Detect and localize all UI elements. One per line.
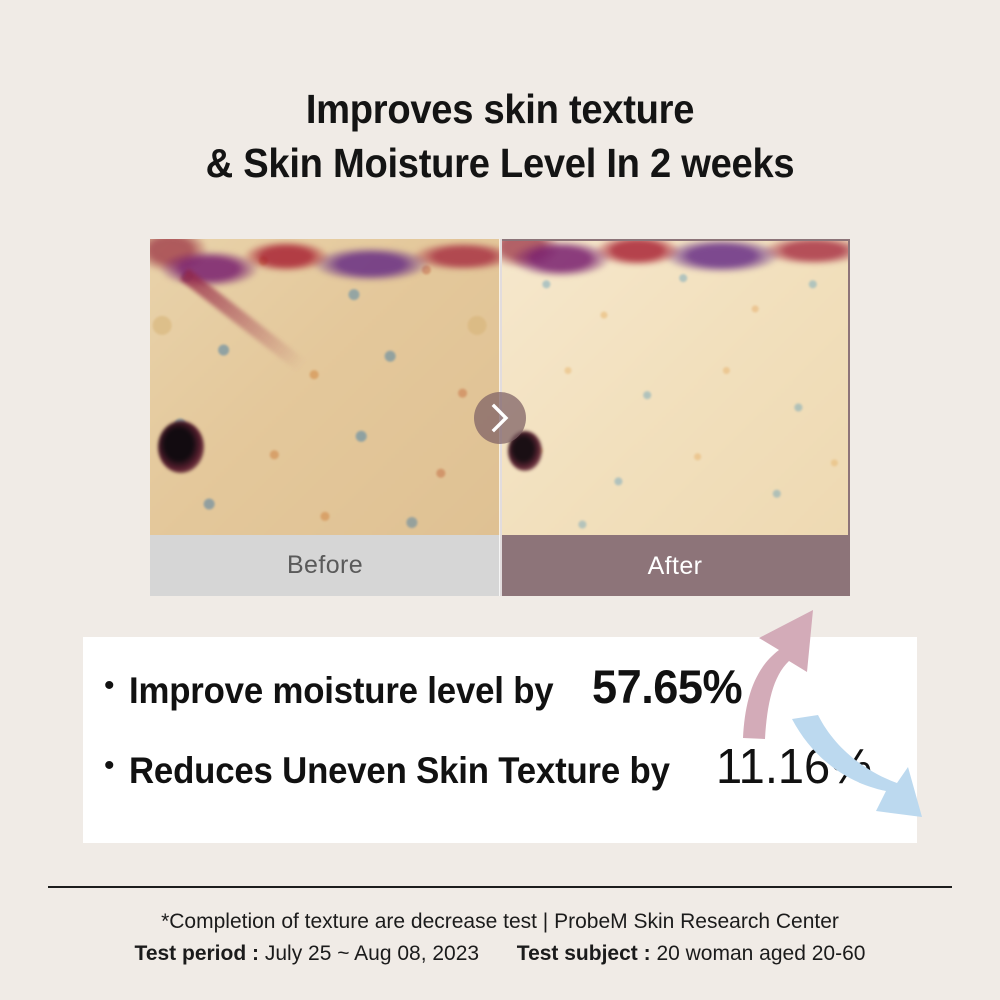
test-period-label: Test period :	[135, 942, 259, 965]
footer-line-1: *Completion of texture are decrease test…	[0, 906, 1000, 938]
chevron-right-icon[interactable]	[474, 392, 526, 444]
capillary-band-after	[502, 241, 850, 287]
page-title: Improves skin texture & Skin Moisture Le…	[35, 82, 965, 190]
footer-disclaimer: *Completion of texture are decrease test…	[0, 906, 1000, 970]
before-photo	[150, 239, 500, 535]
claim-row-moisture: • Improve moisture level by 57.65%	[83, 659, 917, 714]
before-pane: Before	[150, 239, 500, 596]
before-label-bar: Before	[150, 535, 500, 596]
before-after-comparison: Before After	[150, 239, 850, 596]
infographic-page: Improves skin texture & Skin Moisture Le…	[0, 0, 1000, 1000]
page-title-line-2: & Skin Moisture Level In 2 weeks	[35, 136, 965, 190]
test-period-value: July 25 ~ Aug 08, 2023	[265, 942, 479, 965]
bullet-icon: •	[104, 751, 115, 781]
footer-divider	[48, 886, 952, 888]
after-photo	[502, 241, 850, 537]
after-pane: After	[500, 239, 850, 596]
bullet-icon: •	[104, 671, 115, 701]
footer-line-2: Test period : July 25 ~ Aug 08, 2023 Tes…	[0, 938, 1000, 970]
after-label: After	[648, 552, 703, 581]
after-label-bar: After	[500, 535, 850, 596]
claims-card: • Improve moisture level by 57.65% • Red…	[83, 637, 917, 843]
claim-value-texture: 11.16%	[716, 739, 872, 795]
claim-value-moisture: 57.65%	[592, 659, 742, 714]
capillary-band-before	[150, 239, 500, 311]
dark-pore-before	[158, 421, 204, 473]
test-subject-label: Test subject :	[517, 942, 651, 965]
claim-row-texture: • Reduces Uneven Skin Texture by 11.16%	[83, 739, 917, 795]
claim-text-texture: Reduces Uneven Skin Texture by	[129, 750, 670, 792]
test-subject-value: 20 woman aged 20-60	[656, 942, 865, 965]
claim-text-moisture: Improve moisture level by	[129, 670, 553, 712]
page-title-line-1: Improves skin texture	[35, 82, 965, 136]
before-label: Before	[287, 551, 363, 580]
